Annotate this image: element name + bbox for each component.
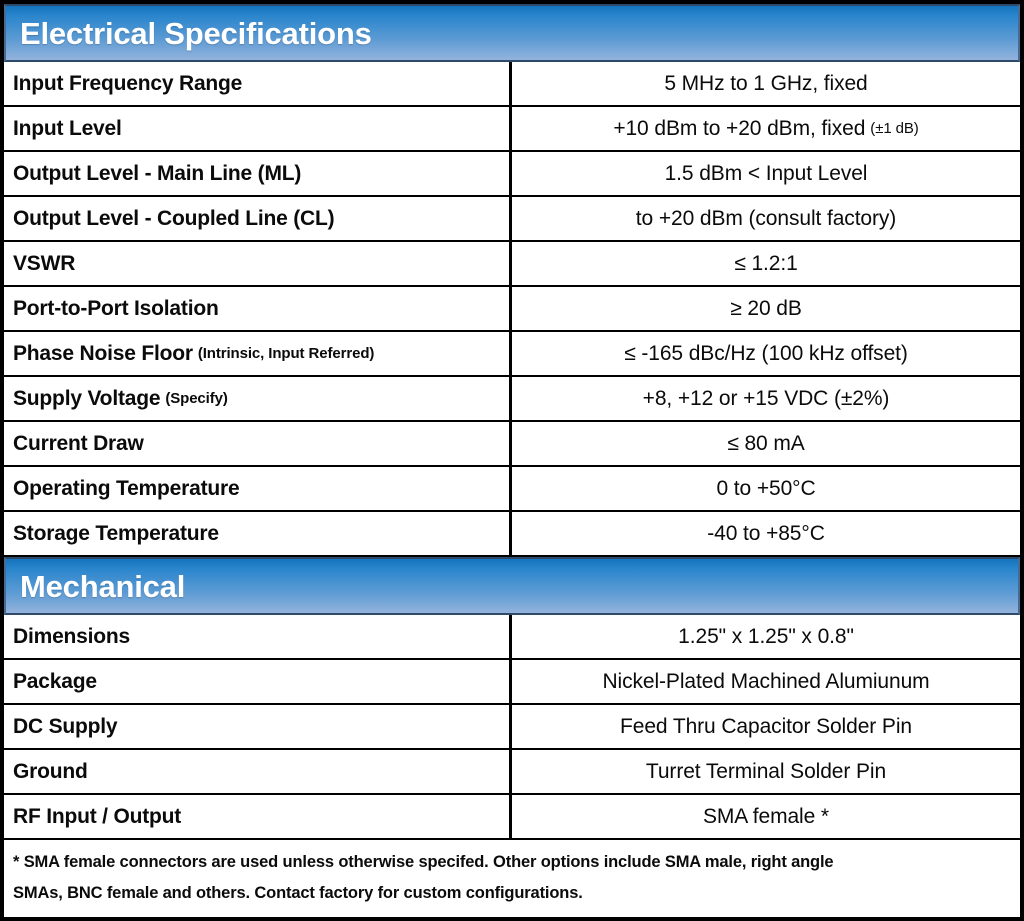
table-row: Current Draw ≤ 80 mA	[4, 422, 1020, 467]
row-label-cell: Output Level - Coupled Line (CL)	[4, 197, 512, 240]
row-value: 1.5 dBm < Input Level	[665, 162, 868, 186]
row-value-cell: 1.25" x 1.25" x 0.8"	[512, 615, 1020, 658]
row-value-cell: ≤ -165 dBc/Hz (100 kHz offset)	[512, 332, 1020, 375]
footnote-line-2: SMAs, BNC female and others. Contact fac…	[13, 878, 1010, 909]
row-label-cell: Port-to-Port Isolation	[4, 287, 512, 330]
row-label: Dimensions	[13, 625, 130, 649]
section-title-mechanical: Mechanical	[20, 571, 185, 602]
row-label-cell: Phase Noise Floor (Intrinsic, Input Refe…	[4, 332, 512, 375]
row-value: 0 to +50°C	[716, 477, 815, 501]
row-value-cell: Feed Thru Capacitor Solder Pin	[512, 705, 1020, 748]
table-row: Operating Temperature 0 to +50°C	[4, 467, 1020, 512]
row-label-cell: Package	[4, 660, 512, 703]
row-label: Output Level - Main Line (ML)	[13, 162, 301, 186]
row-label: Input Frequency Range	[13, 72, 242, 96]
electrical-specifications-table: Input Frequency Range 5 MHz to 1 GHz, fi…	[4, 62, 1020, 557]
row-value: -40 to +85°C	[707, 522, 825, 546]
row-label: Input Level	[13, 117, 122, 141]
row-label-cell: Supply Voltage (Specify)	[4, 377, 512, 420]
row-label-cell: Dimensions	[4, 615, 512, 658]
row-value-cell: +8, +12 or +15 VDC (±2%)	[512, 377, 1020, 420]
row-label-cell: Ground	[4, 750, 512, 793]
row-label: Supply Voltage	[13, 387, 160, 411]
table-row: Storage Temperature -40 to +85°C	[4, 512, 1020, 557]
row-label-cell: Output Level - Main Line (ML)	[4, 152, 512, 195]
table-row: Port-to-Port Isolation ≥ 20 dB	[4, 287, 1020, 332]
row-value: to +20 dBm (consult factory)	[636, 207, 896, 231]
row-label: Operating Temperature	[13, 477, 239, 501]
specification-sheet: Electrical Specifications Input Frequenc…	[0, 0, 1024, 921]
footnote-line-1: * SMA female connectors are used unless …	[13, 847, 1010, 878]
table-row: VSWR ≤ 1.2:1	[4, 242, 1020, 287]
row-label-cell: Input Frequency Range	[4, 62, 512, 105]
table-row: Ground Turret Terminal Solder Pin	[4, 750, 1020, 795]
row-value-cell: 1.5 dBm < Input Level	[512, 152, 1020, 195]
table-row: Phase Noise Floor (Intrinsic, Input Refe…	[4, 332, 1020, 377]
section-title-electrical: Electrical Specifications	[20, 18, 372, 49]
table-row: Package Nickel-Plated Machined Alumiunum	[4, 660, 1020, 705]
row-label: Package	[13, 670, 97, 694]
table-row: Supply Voltage (Specify) +8, +12 or +15 …	[4, 377, 1020, 422]
row-label-qualifier: (Specify)	[165, 390, 227, 407]
row-value-cell: -40 to +85°C	[512, 512, 1020, 555]
row-label-cell: DC Supply	[4, 705, 512, 748]
row-label-qualifier: (Intrinsic, Input Referred)	[198, 345, 374, 362]
row-value-cell: ≤ 80 mA	[512, 422, 1020, 465]
table-row: Output Level - Main Line (ML) 1.5 dBm < …	[4, 152, 1020, 197]
row-value-cell: to +20 dBm (consult factory)	[512, 197, 1020, 240]
row-label: Storage Temperature	[13, 522, 219, 546]
row-value: Nickel-Plated Machined Alumiunum	[602, 670, 929, 694]
row-value: ≥ 20 dB	[730, 297, 802, 321]
row-label: DC Supply	[13, 715, 117, 739]
mechanical-specifications-table: Dimensions 1.25" x 1.25" x 0.8" Package …	[4, 615, 1020, 840]
row-value: ≤ 80 mA	[727, 432, 804, 456]
row-value-qualifier: (±1 dB)	[870, 120, 918, 137]
row-value: +10 dBm to +20 dBm, fixed	[613, 117, 865, 141]
row-label: Ground	[13, 760, 88, 784]
row-value-cell: +10 dBm to +20 dBm, fixed (±1 dB)	[512, 107, 1020, 150]
section-header-mechanical: Mechanical	[4, 557, 1020, 615]
table-row: Dimensions 1.25" x 1.25" x 0.8"	[4, 615, 1020, 660]
row-value-cell: 0 to +50°C	[512, 467, 1020, 510]
table-row: RF Input / Output SMA female *	[4, 795, 1020, 840]
section-header-electrical: Electrical Specifications	[4, 4, 1020, 62]
row-value-cell: Turret Terminal Solder Pin	[512, 750, 1020, 793]
row-label-cell: VSWR	[4, 242, 512, 285]
table-row: Input Frequency Range 5 MHz to 1 GHz, fi…	[4, 62, 1020, 107]
row-value: 5 MHz to 1 GHz, fixed	[664, 72, 867, 96]
row-label-cell: Operating Temperature	[4, 467, 512, 510]
row-value: 1.25" x 1.25" x 0.8"	[678, 625, 854, 649]
row-value-cell: ≥ 20 dB	[512, 287, 1020, 330]
row-value: ≤ -165 dBc/Hz (100 kHz offset)	[624, 342, 908, 366]
table-row: DC Supply Feed Thru Capacitor Solder Pin	[4, 705, 1020, 750]
row-label: RF Input / Output	[13, 805, 181, 829]
row-value: Feed Thru Capacitor Solder Pin	[620, 715, 912, 739]
row-label-cell: Storage Temperature	[4, 512, 512, 555]
row-value-cell: Nickel-Plated Machined Alumiunum	[512, 660, 1020, 703]
row-value: Turret Terminal Solder Pin	[646, 760, 886, 784]
table-row: Output Level - Coupled Line (CL) to +20 …	[4, 197, 1020, 242]
row-value: ≤ 1.2:1	[734, 252, 797, 276]
row-label: Phase Noise Floor	[13, 342, 193, 366]
row-value-cell: 5 MHz to 1 GHz, fixed	[512, 62, 1020, 105]
footnote: * SMA female connectors are used unless …	[4, 840, 1020, 917]
row-label: Port-to-Port Isolation	[13, 297, 219, 321]
row-value-cell: SMA female *	[512, 795, 1020, 838]
table-row: Input Level +10 dBm to +20 dBm, fixed (±…	[4, 107, 1020, 152]
row-value-cell: ≤ 1.2:1	[512, 242, 1020, 285]
row-label-cell: RF Input / Output	[4, 795, 512, 838]
row-label: Output Level - Coupled Line (CL)	[13, 207, 334, 231]
row-label-cell: Input Level	[4, 107, 512, 150]
row-value: SMA female *	[703, 805, 829, 829]
row-label: VSWR	[13, 252, 75, 276]
row-value: +8, +12 or +15 VDC (±2%)	[643, 387, 890, 411]
row-label: Current Draw	[13, 432, 144, 456]
row-label-cell: Current Draw	[4, 422, 512, 465]
